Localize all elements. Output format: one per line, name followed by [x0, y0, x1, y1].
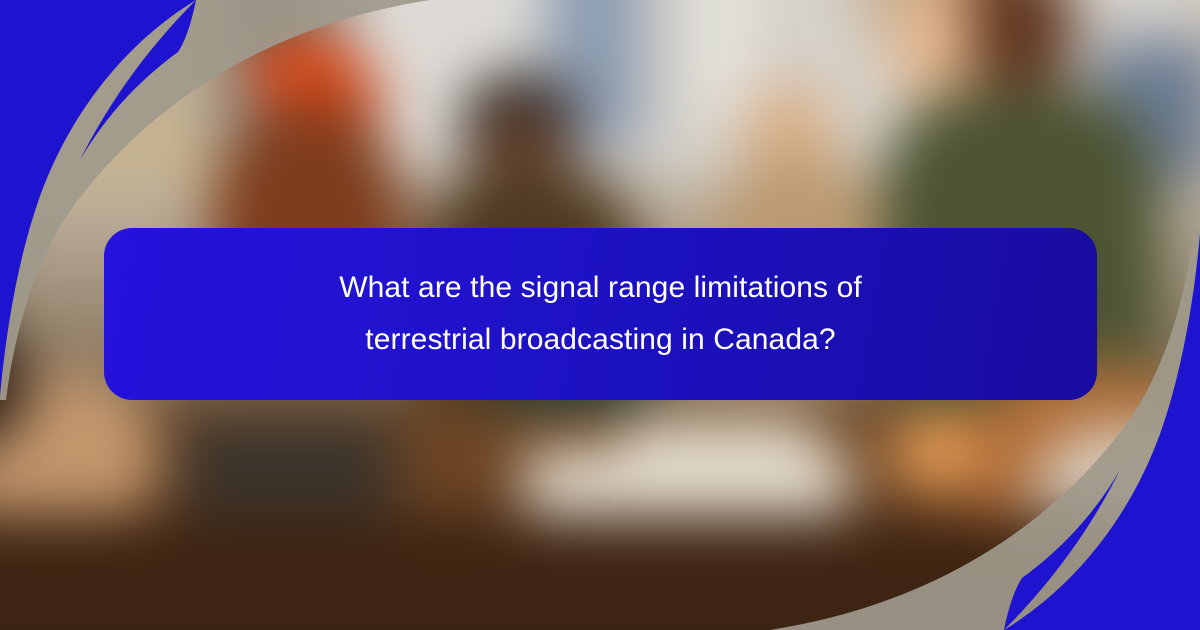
- background-light-column: [708, 0, 740, 115]
- question-text: What are the signal range limitations of…: [339, 262, 862, 366]
- foreground-table-edge: [0, 515, 1200, 630]
- banner-canvas: What are the signal range limitations of…: [0, 0, 1200, 630]
- question-card: What are the signal range limitations of…: [104, 228, 1097, 400]
- background-wall-left: [0, 0, 222, 202]
